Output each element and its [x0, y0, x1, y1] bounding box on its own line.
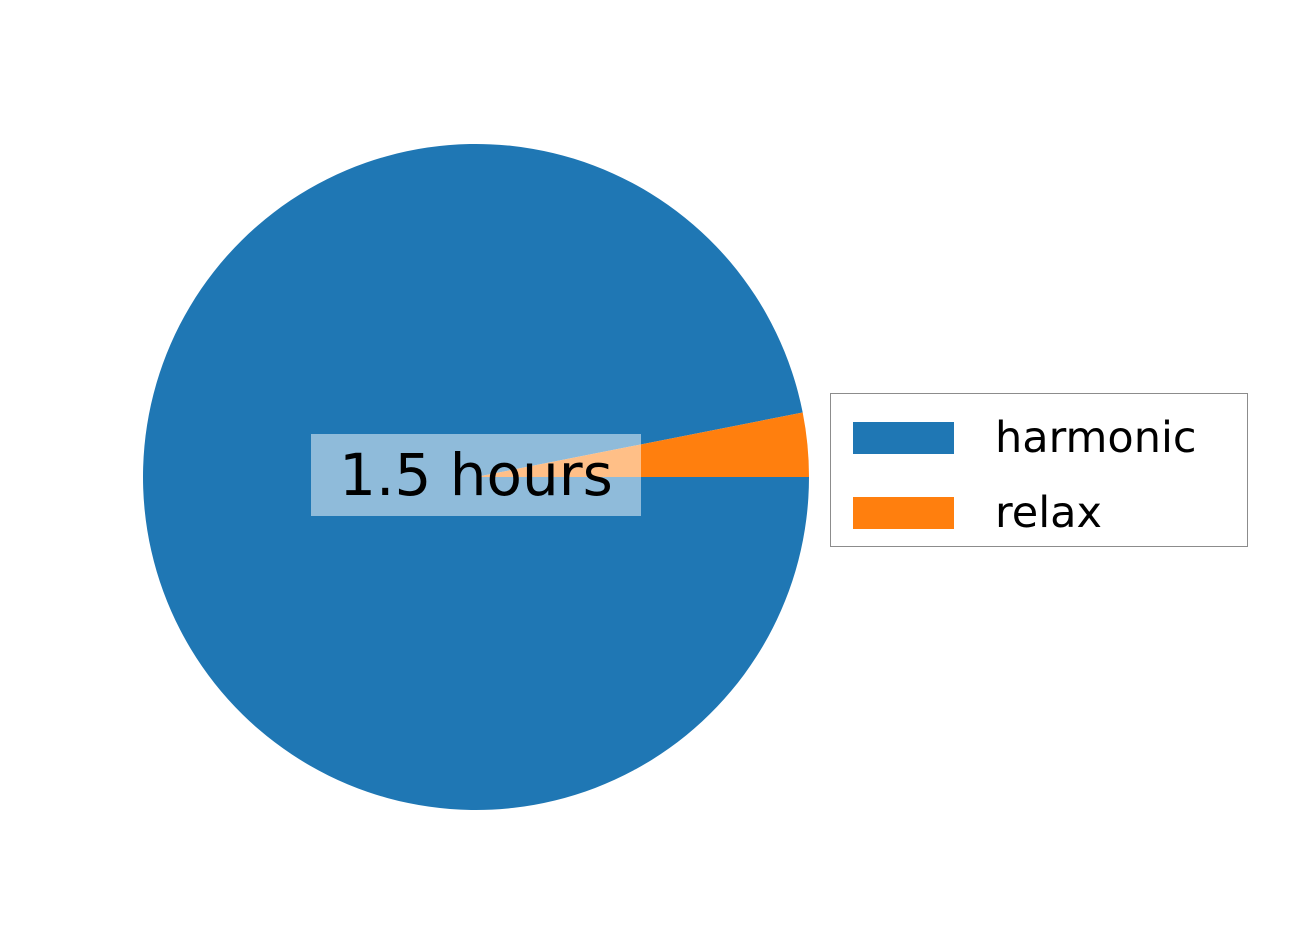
- legend-item-relax[interactable]: relax: [831, 487, 1247, 539]
- legend-swatch-relax: [853, 497, 954, 529]
- pie-slice-label-text: 1.5 hours: [339, 446, 613, 504]
- legend-swatch-harmonic: [853, 422, 954, 454]
- legend-label-harmonic: harmonic: [995, 417, 1197, 460]
- pie-chart-figure: 1.5 hours harmonic relax: [0, 0, 1307, 951]
- legend: harmonic relax: [830, 393, 1248, 547]
- pie-slice-label-harmonic: 1.5 hours: [311, 434, 641, 516]
- legend-item-harmonic[interactable]: harmonic: [831, 412, 1247, 464]
- legend-label-relax: relax: [995, 492, 1102, 535]
